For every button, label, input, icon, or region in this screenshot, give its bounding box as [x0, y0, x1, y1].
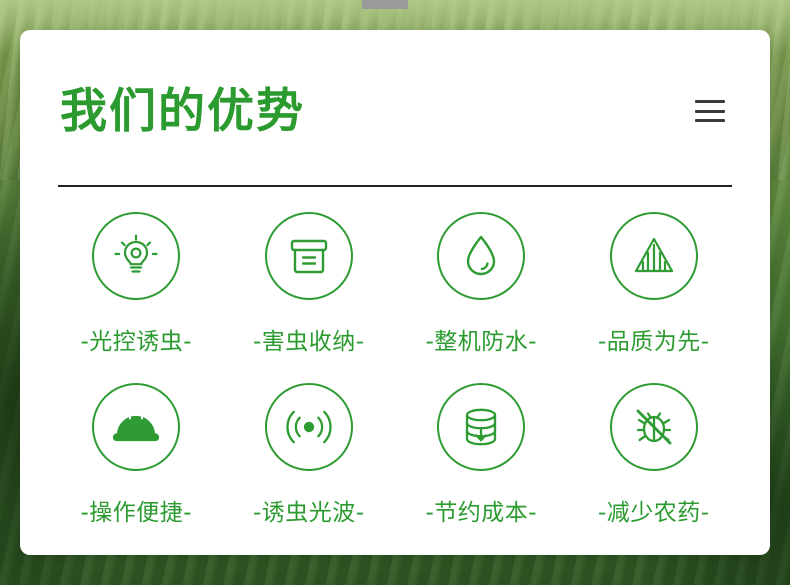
coins-save-icon	[455, 401, 507, 453]
features-grid: -光控诱虫- -害虫收纳-	[50, 212, 740, 554]
page-title: 我们的优势	[60, 88, 305, 135]
feature-item-cost-saving[interactable]: -节约成本-	[395, 383, 568, 554]
menu-bar-2	[695, 110, 725, 113]
feature-item-light-wave[interactable]: -诱虫光波-	[223, 383, 396, 554]
feature-icon-circle	[437, 212, 525, 300]
water-drop-icon	[458, 230, 504, 282]
feature-item-easy-operation[interactable]: -操作便捷-	[50, 383, 223, 554]
feature-icon-circle	[92, 212, 180, 300]
light-wave-icon	[282, 400, 336, 454]
feature-label: -整机防水-	[425, 322, 537, 356]
menu-bar-1	[695, 100, 725, 103]
feature-icon-circle	[610, 212, 698, 300]
page-root: 我们的优势	[0, 0, 790, 585]
quality-rays-icon	[626, 231, 682, 281]
feature-item-quality-first[interactable]: -品质为先-	[568, 212, 741, 383]
feature-item-less-pesticide[interactable]: -减少农药-	[568, 383, 741, 554]
feature-label: -操作便捷-	[80, 493, 192, 527]
feature-label: -节约成本-	[425, 493, 537, 527]
helmet-icon	[109, 404, 163, 450]
feature-icon-circle	[92, 383, 180, 471]
feature-label: -诱虫光波-	[253, 493, 365, 527]
feature-label: -光控诱虫-	[80, 322, 192, 356]
feature-label: -品质为先-	[598, 322, 710, 356]
card-header: 我们的优势	[60, 88, 730, 168]
feature-label: -害虫收纳-	[253, 322, 365, 356]
top-scroll-tab	[362, 0, 408, 9]
feature-icon-circle	[265, 383, 353, 471]
feature-label: -减少农药-	[598, 493, 710, 527]
storage-box-icon	[283, 230, 335, 282]
header-divider	[58, 185, 732, 187]
hamburger-menu-icon[interactable]	[695, 100, 725, 122]
no-pesticide-bug-icon	[627, 400, 681, 454]
feature-icon-circle	[610, 383, 698, 471]
feature-item-light-trap[interactable]: -光控诱虫-	[50, 212, 223, 383]
feature-item-pest-storage[interactable]: -害虫收纳-	[223, 212, 396, 383]
feature-icon-circle	[437, 383, 525, 471]
feature-item-waterproof[interactable]: -整机防水-	[395, 212, 568, 383]
menu-bar-3	[695, 119, 725, 122]
feature-icon-circle	[265, 212, 353, 300]
advantages-card: 我们的优势	[20, 30, 770, 555]
lightbulb-icon	[109, 229, 163, 283]
